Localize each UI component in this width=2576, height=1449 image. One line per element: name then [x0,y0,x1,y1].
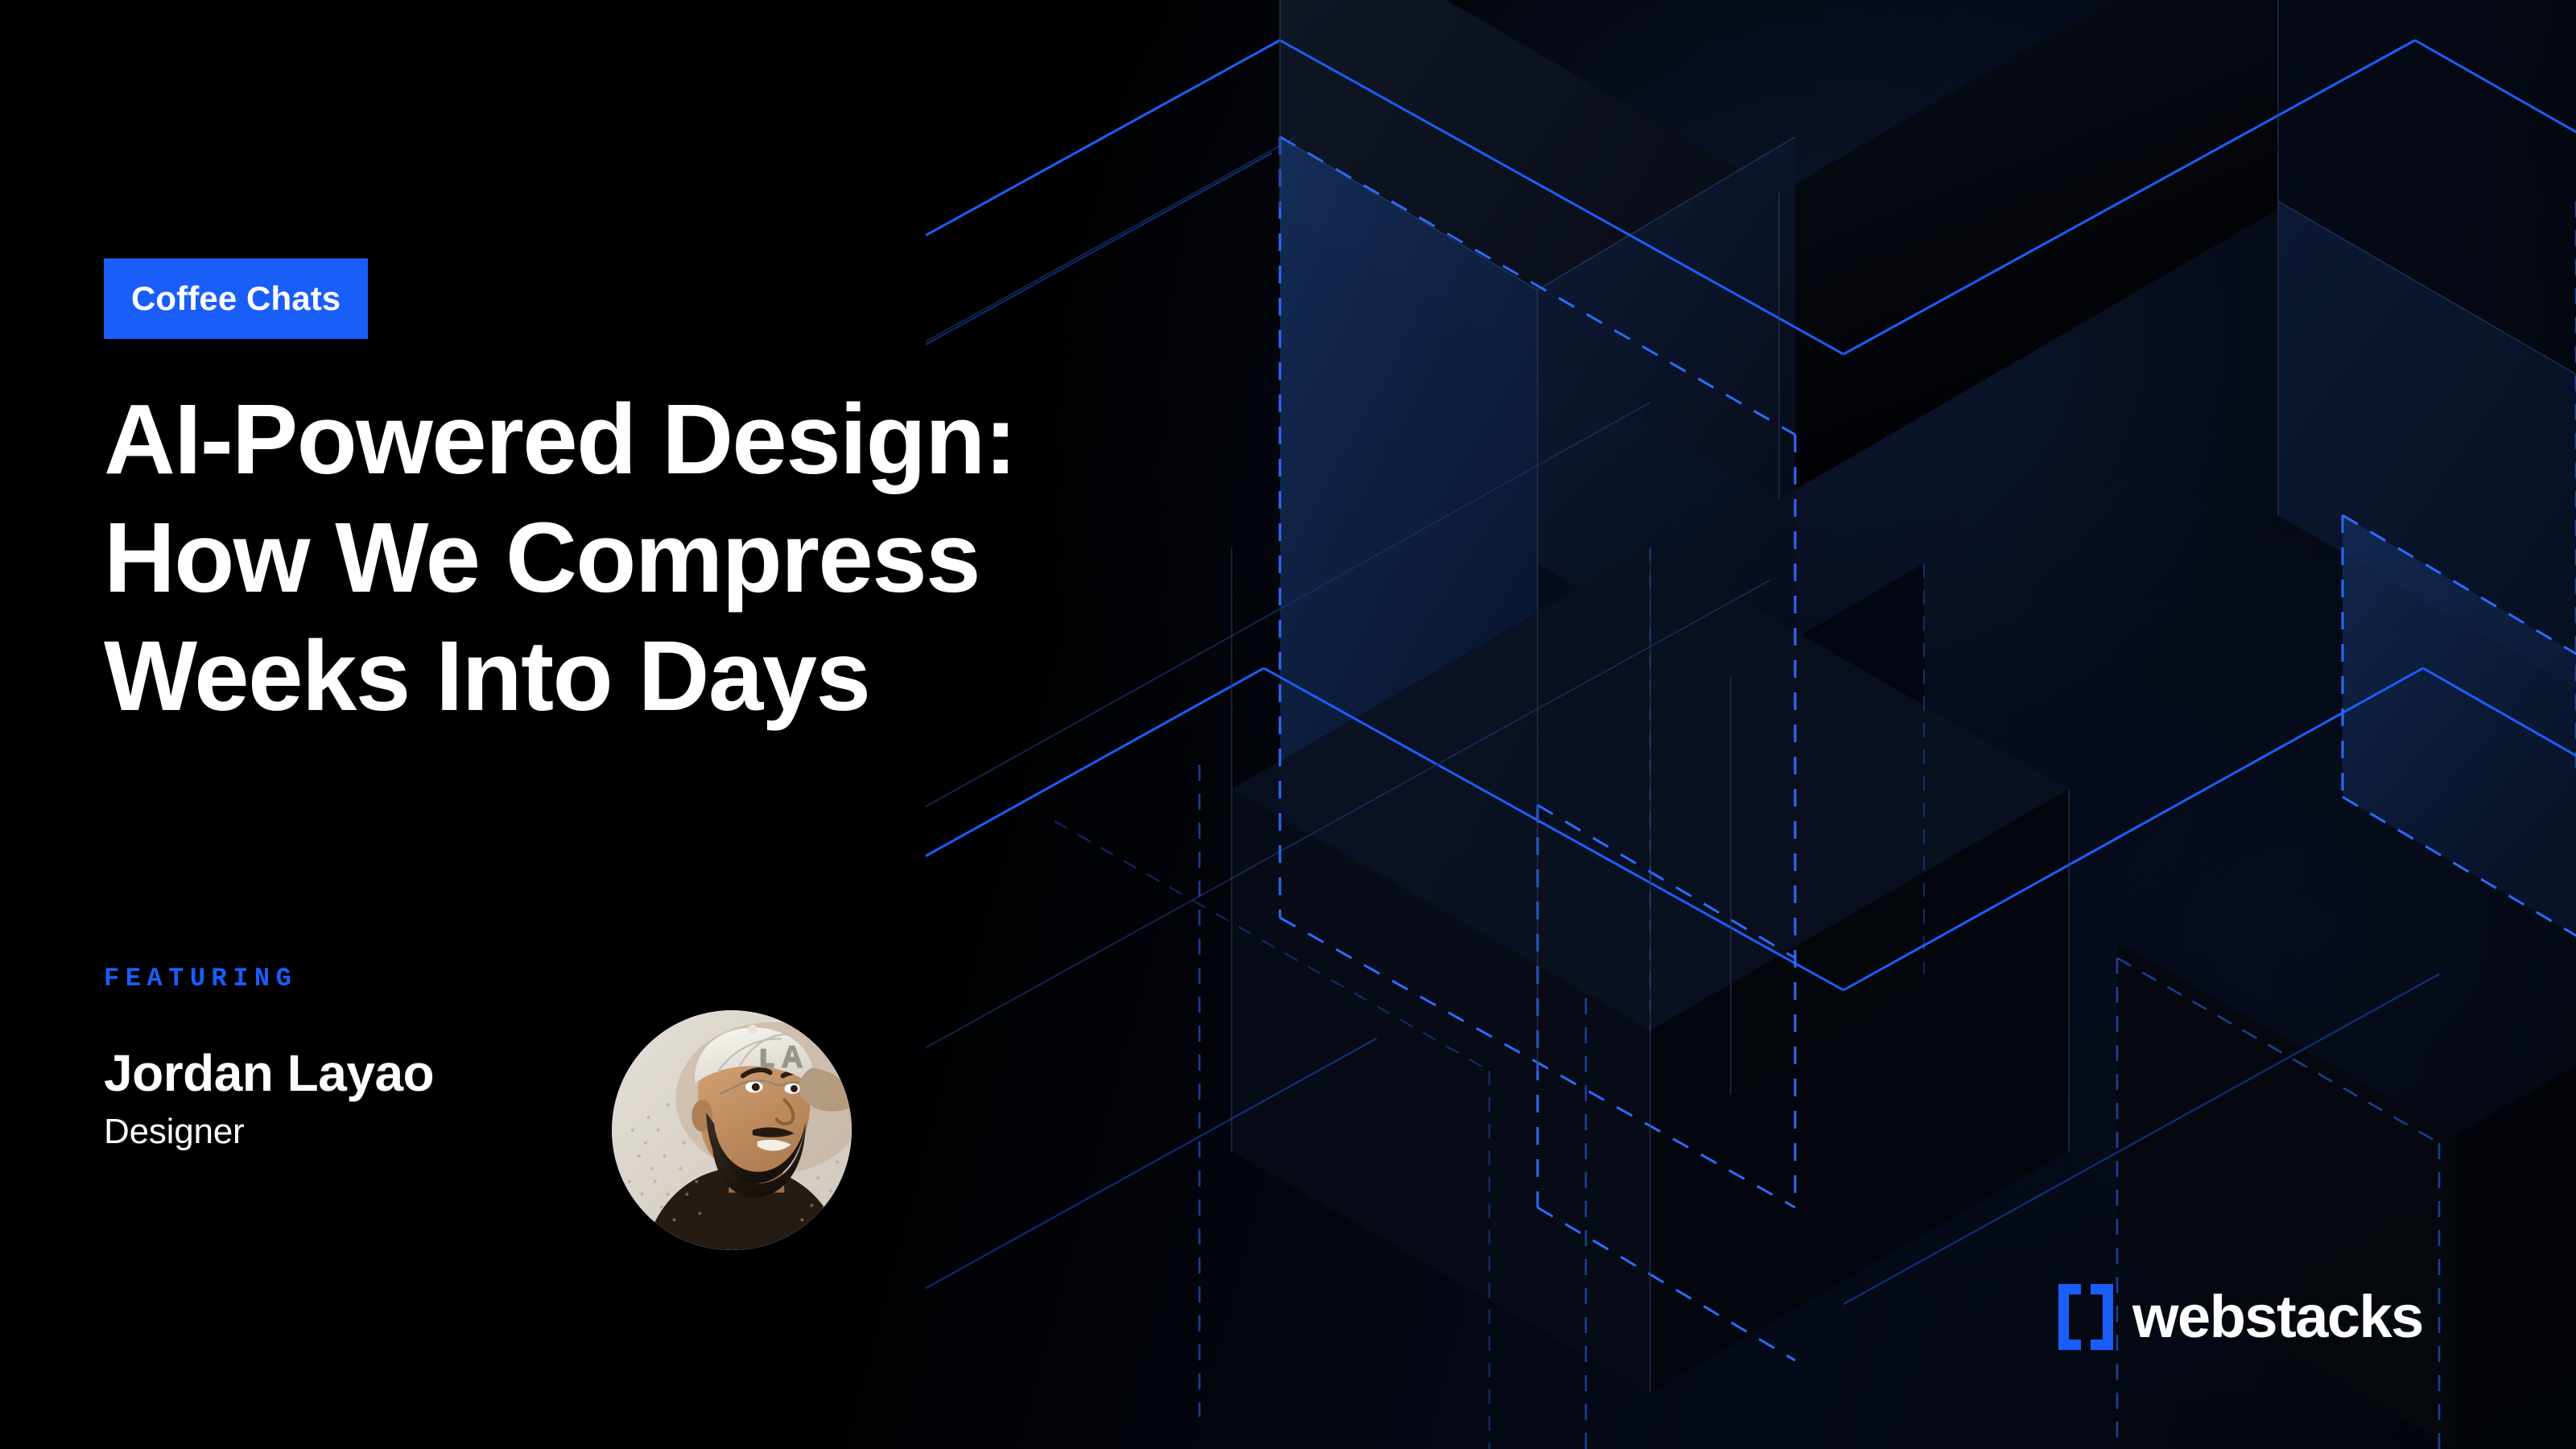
speaker-block: Jordan Layao Designer [104,1046,989,1272]
category-badge: Coffee Chats [104,258,368,339]
webstacks-wordmark: webstacks [2132,1287,2423,1347]
speaker-text: Jordan Layao Designer [104,1046,667,1150]
headline-line-2: How We Compress [104,509,1408,608]
avatar-portrait-illustration [612,1010,852,1250]
headline-line-3: Weeks Into Days [104,627,1408,726]
avatar [612,1010,852,1250]
slide-canvas: Coffee Chats AI-Powered Design: How We C… [0,0,2576,1449]
content-column: Coffee Chats AI-Powered Design: How We C… [104,0,1311,1449]
brackets-icon-svg [2058,1284,2113,1350]
page-title: AI-Powered Design: How We Compress Weeks… [104,390,1408,726]
headline-line-1: AI-Powered Design: [104,390,1408,489]
webstacks-logo: webstacks [2058,1280,2423,1354]
speaker-name: Jordan Layao [104,1046,667,1100]
speaker-role: Designer [104,1113,667,1150]
featuring-label: FEATURING [104,966,297,992]
brackets-icon [2058,1284,2113,1350]
